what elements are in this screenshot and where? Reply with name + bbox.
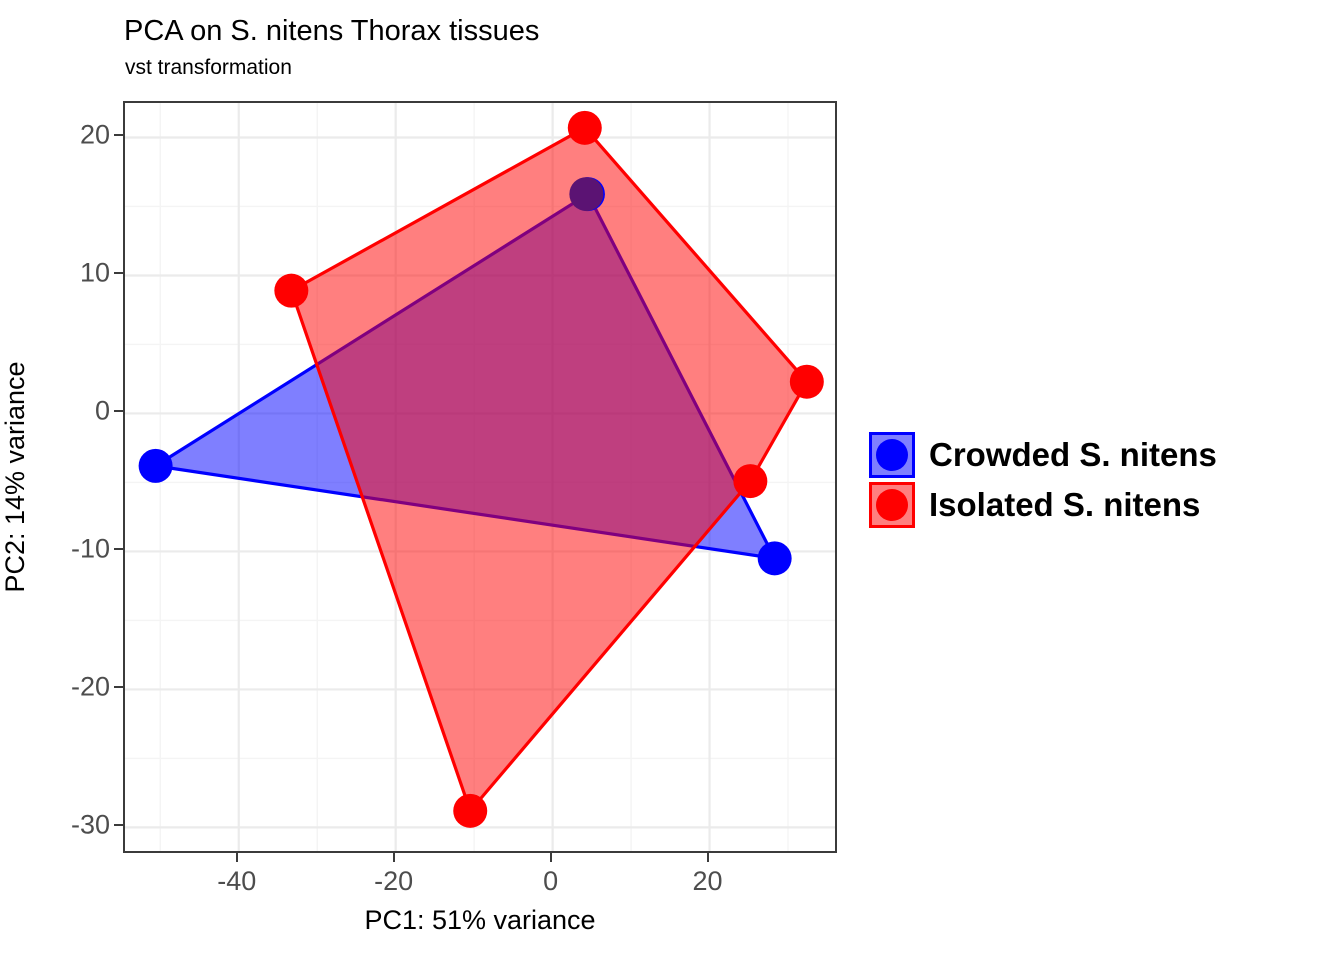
y-tick-label: -30 bbox=[71, 810, 110, 841]
legend-key-crowded-icon bbox=[869, 432, 915, 478]
plot-subtitle: vst transformation bbox=[125, 55, 292, 80]
legend-label-isolated: Isolated S. nitens bbox=[929, 486, 1200, 524]
y-tick-mark bbox=[114, 134, 123, 136]
x-tick-label: -40 bbox=[217, 866, 256, 897]
x-tick-mark bbox=[236, 853, 238, 862]
y-tick-label: 0 bbox=[95, 396, 110, 427]
legend-item-crowded[interactable]: Crowded S. nitens bbox=[869, 430, 1217, 480]
x-tick-label: 0 bbox=[543, 866, 558, 897]
page-title: PCA on S. nitens Thorax tissues bbox=[124, 14, 539, 48]
y-tick-mark bbox=[114, 410, 123, 412]
chart-root: PCA on S. nitens Thorax tissues vst tran… bbox=[0, 0, 1344, 960]
legend: Crowded S. nitens Isolated S. nitens bbox=[869, 430, 1217, 530]
x-tick-mark bbox=[393, 853, 395, 862]
y-tick-mark bbox=[114, 548, 123, 550]
x-tick-label: -20 bbox=[374, 866, 413, 897]
y-tick-mark bbox=[114, 686, 123, 688]
y-tick-mark bbox=[114, 272, 123, 274]
legend-item-isolated[interactable]: Isolated S. nitens bbox=[869, 480, 1217, 530]
x-axis-title: PC1: 51% variance bbox=[123, 905, 837, 936]
y-tick-label: -10 bbox=[71, 534, 110, 565]
legend-label-crowded: Crowded S. nitens bbox=[929, 436, 1217, 474]
y-tick-mark bbox=[114, 824, 123, 826]
legend-key-isolated-icon bbox=[869, 482, 915, 528]
x-tick-mark bbox=[550, 853, 552, 862]
y-tick-label: 20 bbox=[80, 120, 110, 151]
x-tick-label: 20 bbox=[693, 866, 723, 897]
plot-panel bbox=[123, 101, 837, 853]
y-axis-title: PC2: 14% variance bbox=[0, 101, 36, 853]
plot-area bbox=[125, 103, 837, 853]
x-tick-mark bbox=[707, 853, 709, 862]
y-tick-label: -20 bbox=[71, 672, 110, 703]
y-tick-label: 10 bbox=[80, 258, 110, 289]
